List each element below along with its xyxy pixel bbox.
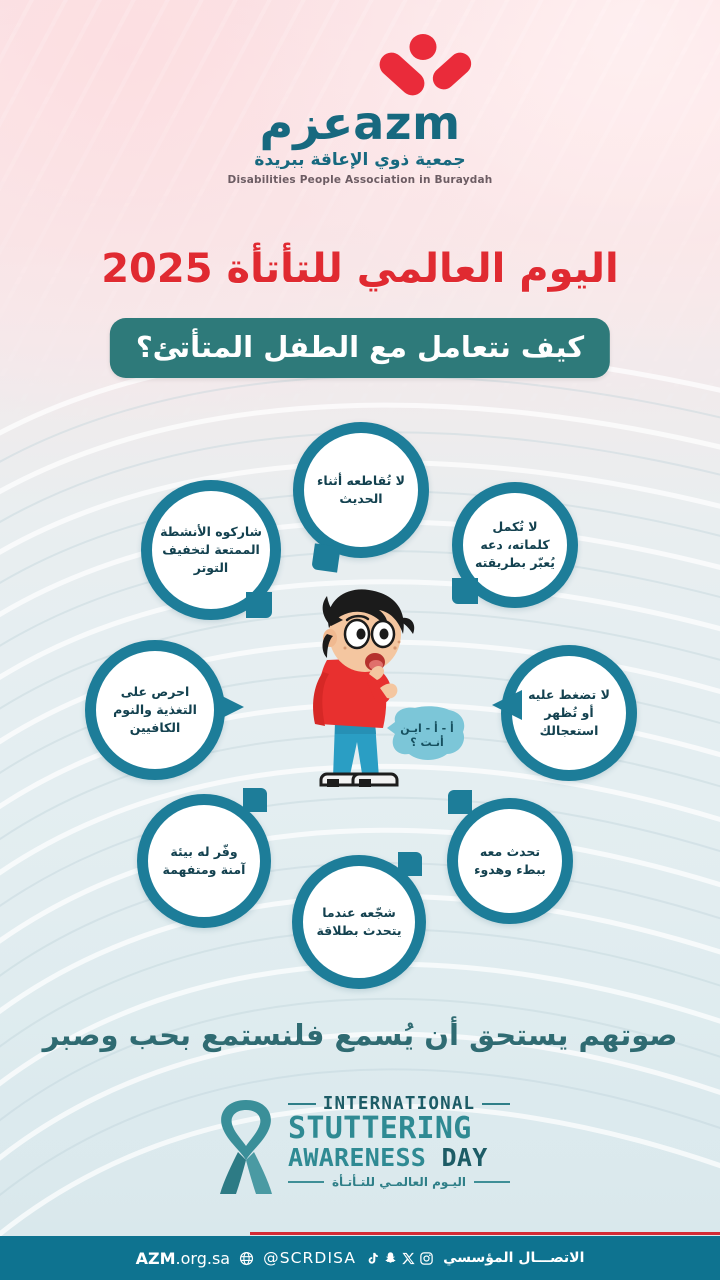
isad-arabic-dash-left — [288, 1181, 324, 1183]
footer-accent-rule — [250, 1232, 720, 1235]
logo-arabic-name: جمعية ذوي الإعاقة ببريدة — [210, 150, 510, 170]
isad-line-awareness-day: AWARENESS DAY — [288, 1145, 510, 1171]
instagram-icon[interactable] — [419, 1251, 434, 1266]
footer-social-icons — [365, 1251, 434, 1266]
tip-bubble-label: لا تُكمل كلماته، دعه يُعبّر بطريقته — [463, 518, 567, 572]
organization-logo: azmعزم جمعية ذوي الإعاقة ببريدة Disabili… — [0, 34, 720, 194]
footer-website-name: AZM — [136, 1249, 176, 1268]
logo-wordmark-latin: azm — [353, 96, 460, 150]
isad-dash-left — [288, 1103, 316, 1106]
tip-bubble-tail — [246, 592, 272, 618]
infographic-poster: azmعزم جمعية ذوي الإعاقة ببريدة Disabili… — [0, 0, 720, 1280]
page-title: اليوم العالمي للتأتأة 2025 — [0, 246, 720, 292]
speech-bubble-line2: أنـت ؟ — [410, 735, 444, 749]
tip-bubble-tail — [243, 788, 267, 812]
tip-bubble-tail — [311, 543, 340, 572]
logo-english-name: Disabilities People Association in Buray… — [210, 174, 510, 186]
tip-bubble-label: لا تضغط عليه أو تُظهر استعجالك — [512, 686, 626, 740]
tip-bubble-nutrition-sleep[interactable]: احرص على التغذية والنوم الكافيين — [85, 640, 225, 780]
closing-tagline: صوتهم يستحق أن يُسمع فلنستمع بحب وصبر — [0, 1018, 720, 1052]
tip-bubble-safe-environment[interactable]: وفّر له بيئة آمنة ومتفهمة — [137, 794, 271, 928]
tip-bubble-label: وفّر له بيئة آمنة ومتفهمة — [148, 843, 260, 879]
isad-awareness-label: AWARENESS — [288, 1143, 426, 1172]
tip-bubble-label: شجّعه عندما يتحدث بطلاقة — [303, 904, 415, 940]
footer-arabic-label: الاتصـــال المؤسسي — [443, 1250, 584, 1266]
footer-bar: الاتصـــال المؤسسي @SCRDISA AZM.org.s — [0, 1236, 720, 1280]
tip-bubble-tail — [214, 692, 244, 722]
snapchat-icon[interactable] — [383, 1251, 398, 1266]
logo-wordmark-arabic: عزم — [259, 96, 353, 150]
tip-bubble-label: لا تُقاطعه أثناء الحديث — [304, 472, 418, 508]
tip-bubble-tail — [398, 852, 422, 876]
tip-bubble-speak-slowly[interactable]: تحدث معه ببطء وهدوء — [447, 798, 573, 924]
child-speech-bubble: أ - أ - ايـن أنـت ؟ — [387, 706, 467, 764]
tip-bubble-label: شاركوه الأنشطة الممتعة لتخفيف التوتر — [152, 523, 270, 577]
subtitle-banner: كيف نتعامل مع الطفل المتأتئ؟ — [110, 318, 610, 378]
isad-badge: INTERNATIONAL STUTTERING AWARENESS DAY ا… — [210, 1092, 510, 1200]
isad-arabic-dash-right — [474, 1181, 510, 1183]
globe-icon — [239, 1251, 254, 1266]
speech-bubble-line1: أ - أ - ايـن — [400, 721, 454, 735]
tip-bubble-do-not-interrupt[interactable]: لا تُقاطعه أثناء الحديث — [293, 422, 429, 558]
isad-day-label: DAY — [442, 1143, 488, 1172]
isad-line-stuttering: STUTTERING — [288, 1114, 510, 1145]
stuttering-child-illustration — [283, 582, 463, 812]
isad-arabic-label: اليـوم العالمـي للتـأتـأة — [332, 1175, 466, 1189]
footer-website[interactable]: AZM.org.sa — [136, 1249, 230, 1268]
isad-arabic-line: اليـوم العالمـي للتـأتـأة — [288, 1175, 510, 1189]
awareness-ribbon-icon — [210, 1098, 282, 1196]
tip-bubble-label: تحدث معه ببطء وهدوء — [458, 843, 562, 879]
tiktok-icon[interactable] — [365, 1251, 380, 1266]
x-icon[interactable] — [401, 1251, 416, 1266]
tip-bubble-label: احرص على التغذية والنوم الكافيين — [96, 683, 214, 737]
logo-wordmark: azmعزم — [210, 100, 510, 146]
isad-dash-right — [482, 1103, 510, 1106]
footer-website-tld: .org.sa — [176, 1249, 231, 1268]
footer-social-handle[interactable]: @SCRDISA — [263, 1249, 356, 1267]
